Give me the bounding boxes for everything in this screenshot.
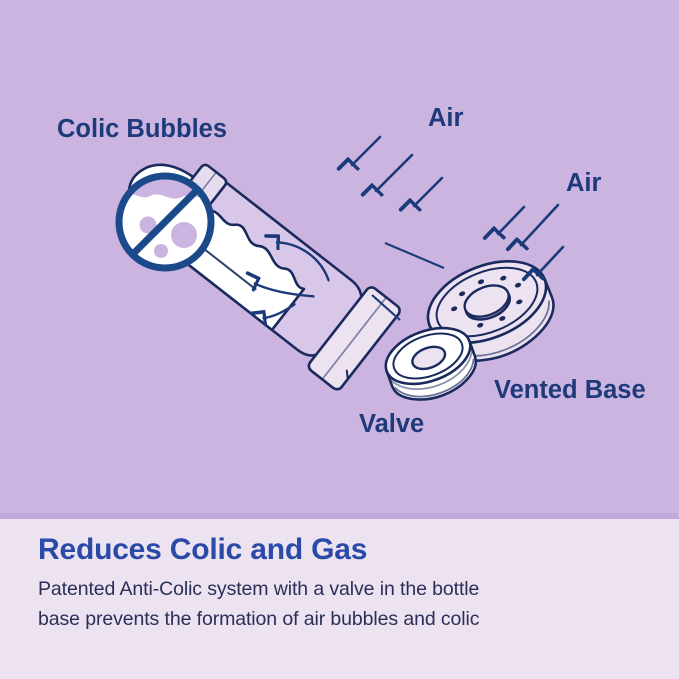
anti-colic-diagram: Colic Bubbles Air Air Valve Vented Base (0, 0, 679, 515)
label-valve: Valve (359, 410, 424, 438)
label-colic-bubbles: Colic Bubbles (57, 115, 227, 143)
label-air-top: Air (428, 104, 464, 132)
caption-body-line-2: base prevents the formation of air bubbl… (38, 604, 648, 634)
label-air-right: Air (566, 169, 602, 197)
caption-inner: Reduces Colic and Gas Patented Anti-Coli… (38, 533, 648, 634)
illustration-panel: Colic Bubbles Air Air Valve Vented Base (0, 0, 679, 515)
caption-body-line-1: Patented Anti-Colic system with a valve … (38, 574, 648, 604)
air-inflow-arrow-icon (352, 137, 442, 206)
caption-title: Reduces Colic and Gas (38, 533, 648, 566)
label-vented-base: Vented Base (494, 376, 646, 404)
caption-panel: Reduces Colic and Gas Patented Anti-Coli… (0, 519, 679, 679)
product-feature-infographic: Colic Bubbles Air Air Valve Vented Base … (0, 0, 679, 679)
no-bubbles-icon (119, 176, 211, 268)
